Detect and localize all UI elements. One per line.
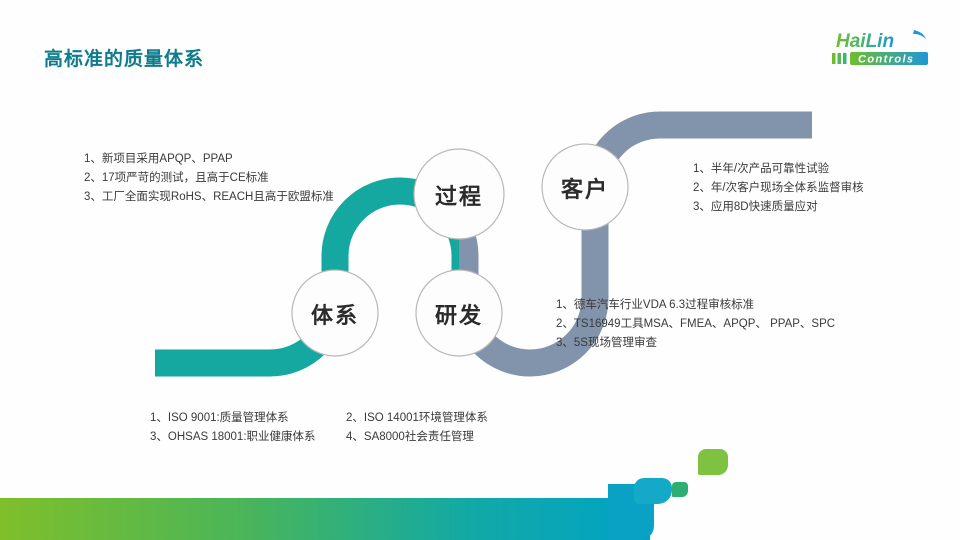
rd-notes: 1、德车汽车行业VDA 6.3过程审核标准 2、TS16949工具MSA、FME… [556, 296, 835, 353]
system-notes: 1、ISO 9001:质量管理体系 2、ISO 14001环境管理体系 3、OH… [150, 409, 488, 447]
process-note-line: 2、17项严苛的测试，且高于CE标准 [84, 169, 334, 188]
node-label-system: 体系 [311, 298, 359, 330]
process-note-line: 3、工厂全面实现RoHS、REACH且高于欧盟标准 [84, 188, 334, 207]
logo-leaf-icon [913, 30, 926, 39]
footer-deco-cyan-tab [634, 478, 672, 504]
s-curve-diagram [0, 0, 960, 540]
page-title: 高标准的质量体系 [44, 44, 204, 71]
customer-note-line: 1、半年/次产品可靠性试验 [693, 160, 864, 179]
node-label-rd: 研发 [435, 298, 483, 330]
customer-note-line: 3、应用8D快速质量应对 [693, 198, 864, 217]
hailin-controls-logo: HaiLin Controls [818, 26, 938, 72]
system-note-row: 3、OHSAS 18001:职业健康体系 4、SA8000社会责任管理 [150, 428, 488, 447]
node-label-customer: 客户 [561, 172, 609, 204]
slide-root: 高标准的质量体系 HaiLin Controls [0, 0, 960, 540]
system-note-row: 1、ISO 9001:质量管理体系 2、ISO 14001环境管理体系 [150, 409, 488, 428]
footer-gradient-bar [0, 498, 650, 540]
system-note-right: 2、ISO 14001环境管理体系 [346, 409, 488, 428]
node-label-process: 过程 [435, 179, 483, 211]
rd-note-line: 2、TS16949工具MSA、FMEA、APQP、 PPAP、SPC [556, 315, 835, 334]
footer-deco-green-dot [672, 482, 688, 497]
process-note-line: 1、新项目采用APQP、PPAP [84, 150, 334, 169]
system-note-left: 3、OHSAS 18001:职业健康体系 [150, 428, 346, 447]
system-note-left: 1、ISO 9001:质量管理体系 [150, 409, 346, 428]
footer-deco-green-block [698, 449, 728, 475]
rd-note-line: 1、德车汽车行业VDA 6.3过程审核标准 [556, 296, 835, 315]
customer-note-line: 2、年/次客户现场全体系监督审核 [693, 179, 864, 198]
process-notes: 1、新项目采用APQP、PPAP 2、17项严苛的测试，且高于CE标准 3、工厂… [84, 150, 334, 207]
customer-notes: 1、半年/次产品可靠性试验 2、年/次客户现场全体系监督审核 3、应用8D快速质… [693, 160, 864, 217]
logo-wordmark: HaiLin [836, 31, 894, 52]
rd-note-line: 3、5S现场管理审查 [556, 334, 835, 353]
logo-subtext: Controls [858, 54, 914, 66]
system-note-right: 4、SA8000社会责任管理 [346, 428, 474, 447]
